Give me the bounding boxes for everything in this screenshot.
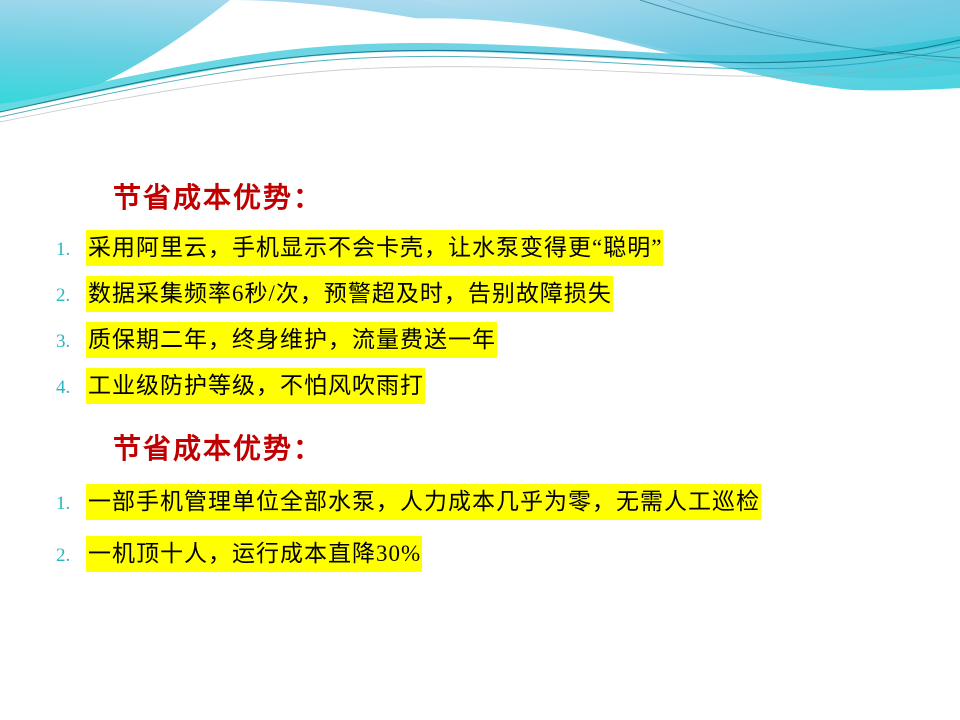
list-item[interactable]: 1. 采用阿里云，手机显示不会卡壳，让水泵变得更“聪明” [50,230,940,268]
list-marker: 2. [50,285,86,307]
list-item-text: 工业级防护等级，不怕风吹雨打 [86,368,425,404]
list-item-text: 数据采集频率6秒/次，预警超及时，告别故障损失 [86,276,613,312]
list-marker: 2. [50,545,86,567]
list-item[interactable]: 4. 工业级防护等级，不怕风吹雨打 [50,368,940,406]
list-item-text: 一机顶十人，运行成本直降30% [86,536,422,572]
numbered-list-2: 1. 一部手机管理单位全部水泵，人力成本几乎为零，无需人工巡检 2. 一机顶十人… [50,484,940,582]
list-item[interactable]: 2. 数据采集频率6秒/次，预警超及时，告别故障损失 [50,276,940,314]
numbered-list-1: 1. 采用阿里云，手机显示不会卡壳，让水泵变得更“聪明” 2. 数据采集频率6秒… [50,230,940,414]
list-item[interactable]: 1. 一部手机管理单位全部水泵，人力成本几乎为零，无需人工巡检 [50,484,940,522]
list-item-text: 质保期二年，终身维护，流量费送一年 [86,322,497,358]
slide-content: 节省成本优势： 1. 采用阿里云，手机显示不会卡壳，让水泵变得更“聪明” 2. … [0,0,960,720]
list-marker: 4. [50,377,86,399]
list-item-text: 采用阿里云，手机显示不会卡壳，让水泵变得更“聪明” [86,230,663,266]
list-marker: 1. [50,239,86,261]
list-item[interactable]: 3. 质保期二年，终身维护，流量费送一年 [50,322,940,360]
section-heading-2: 节省成本优势： [113,427,323,467]
presentation-slide: 节省成本优势： 1. 采用阿里云，手机显示不会卡壳，让水泵变得更“聪明” 2. … [0,0,960,720]
section-heading-1: 节省成本优势： [113,176,323,216]
list-item-text: 一部手机管理单位全部水泵，人力成本几乎为零，无需人工巡检 [86,484,761,520]
list-item[interactable]: 2. 一机顶十人，运行成本直降30% [50,536,940,574]
list-marker: 3. [50,331,86,353]
list-marker: 1. [50,493,86,515]
